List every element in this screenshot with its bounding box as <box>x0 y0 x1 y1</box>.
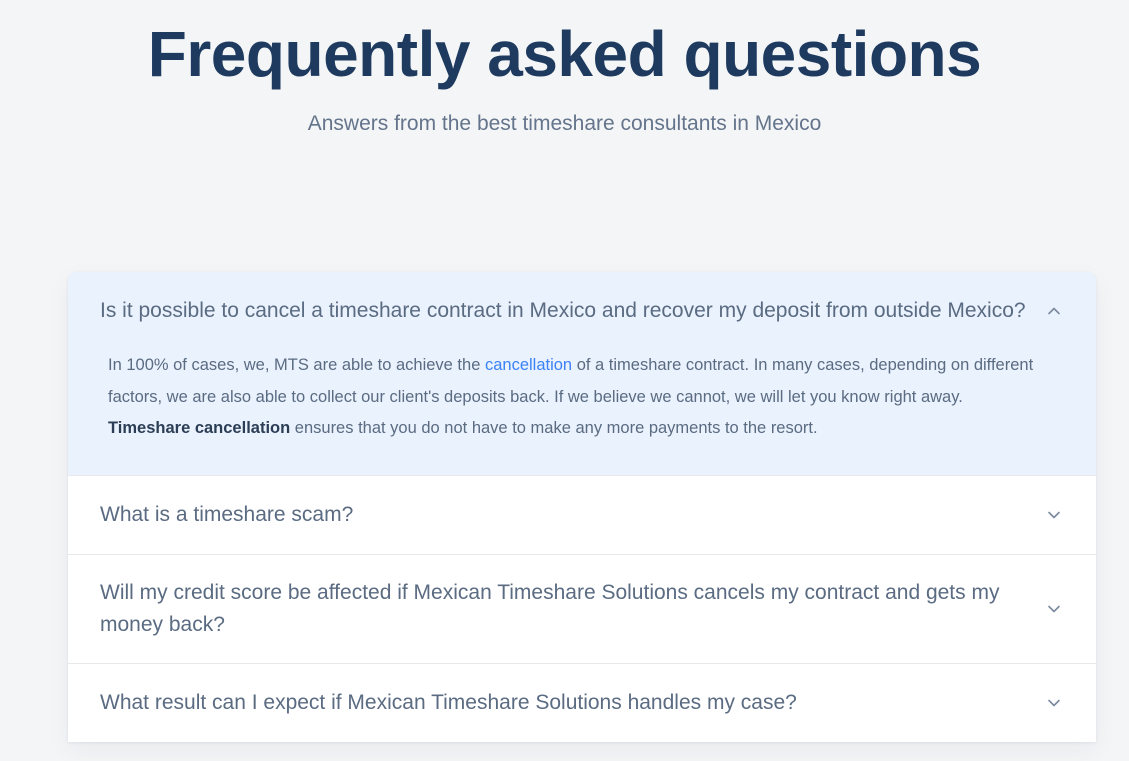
faq-answer-text-1: In 100% of cases, we, MTS are able to ac… <box>108 350 1048 445</box>
chevron-down-icon[interactable] <box>1044 693 1064 713</box>
faq-accordion: Is it possible to cancel a timeshare con… <box>68 272 1096 742</box>
cancellation-link[interactable]: cancellation <box>485 356 572 374</box>
page-header: Frequently asked questions Answers from … <box>0 0 1129 139</box>
faq-item-3: Will my credit score be affected if Mexi… <box>68 554 1096 663</box>
faq-question-header-1[interactable]: Is it possible to cancel a timeshare con… <box>68 272 1096 350</box>
chevron-down-icon[interactable] <box>1044 599 1064 619</box>
answer-segment-1: In 100% of cases, we, MTS are able to ac… <box>108 356 485 374</box>
faq-item-2: What is a timeshare scam? <box>68 475 1096 554</box>
page-title: Frequently asked questions <box>0 14 1129 94</box>
faq-item-1: Is it possible to cancel a timeshare con… <box>68 272 1096 475</box>
faq-item-4: What result can I expect if Mexican Time… <box>68 663 1096 742</box>
faq-question-text-4: What result can I expect if Mexican Time… <box>100 687 1034 719</box>
faq-question-header-4[interactable]: What result can I expect if Mexican Time… <box>68 664 1096 742</box>
page-subtitle: Answers from the best timeshare consulta… <box>0 109 1129 139</box>
faq-question-text-3: Will my credit score be affected if Mexi… <box>100 577 1034 641</box>
faq-question-header-2[interactable]: What is a timeshare scam? <box>68 476 1096 554</box>
chevron-up-icon[interactable] <box>1044 301 1064 321</box>
faq-answer-panel-1: In 100% of cases, we, MTS are able to ac… <box>68 350 1096 475</box>
answer-segment-3: ensures that you do not have to make any… <box>290 419 817 437</box>
faq-question-text-1: Is it possible to cancel a timeshare con… <box>100 295 1034 327</box>
chevron-down-icon[interactable] <box>1044 505 1064 525</box>
faq-page: Frequently asked questions Answers from … <box>0 0 1129 761</box>
answer-bold-text: Timeshare cancellation <box>108 419 290 437</box>
faq-question-text-2: What is a timeshare scam? <box>100 499 1034 531</box>
faq-question-header-3[interactable]: Will my credit score be affected if Mexi… <box>68 555 1096 663</box>
